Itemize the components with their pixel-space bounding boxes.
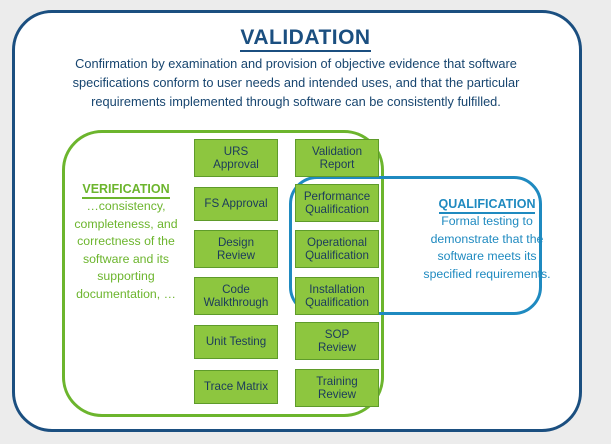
verification-title-text: VERIFICATION: [82, 182, 169, 199]
box-validation-report: Validation Report: [295, 139, 379, 177]
box-urs-approval: URS Approval: [194, 139, 278, 177]
box-code-walkthrough: Code Walkthrough: [194, 277, 278, 315]
box-trace-matrix: Trace Matrix: [194, 370, 278, 404]
qualification-title: QUALIFICATION: [425, 197, 549, 211]
qualification-title-text: QUALIFICATION: [439, 197, 536, 214]
box-operational-qualification: Operational Qualification: [295, 230, 379, 268]
validation-title: VALIDATION: [0, 26, 611, 50]
validation-title-text: VALIDATION: [240, 26, 370, 52]
box-installation-qualification: Installation Qualification: [295, 277, 379, 315]
verification-description: …consistency, completeness, and correctn…: [60, 198, 192, 303]
box-performance-qualification: Performance Qualification: [295, 184, 379, 222]
validation-description: Confirmation by examination and provisio…: [46, 54, 546, 111]
box-fs-approval: FS Approval: [194, 187, 278, 221]
box-unit-testing: Unit Testing: [194, 325, 278, 359]
verification-title: VERIFICATION: [66, 182, 186, 196]
box-design-review: Design Review: [194, 230, 278, 268]
box-sop-review: SOP Review: [295, 322, 379, 360]
diagram-canvas: VALIDATION Confirmation by examination a…: [0, 0, 611, 444]
box-training-review: Training Review: [295, 369, 379, 407]
qualification-description: Formal testing to demonstrate that the s…: [423, 213, 551, 283]
